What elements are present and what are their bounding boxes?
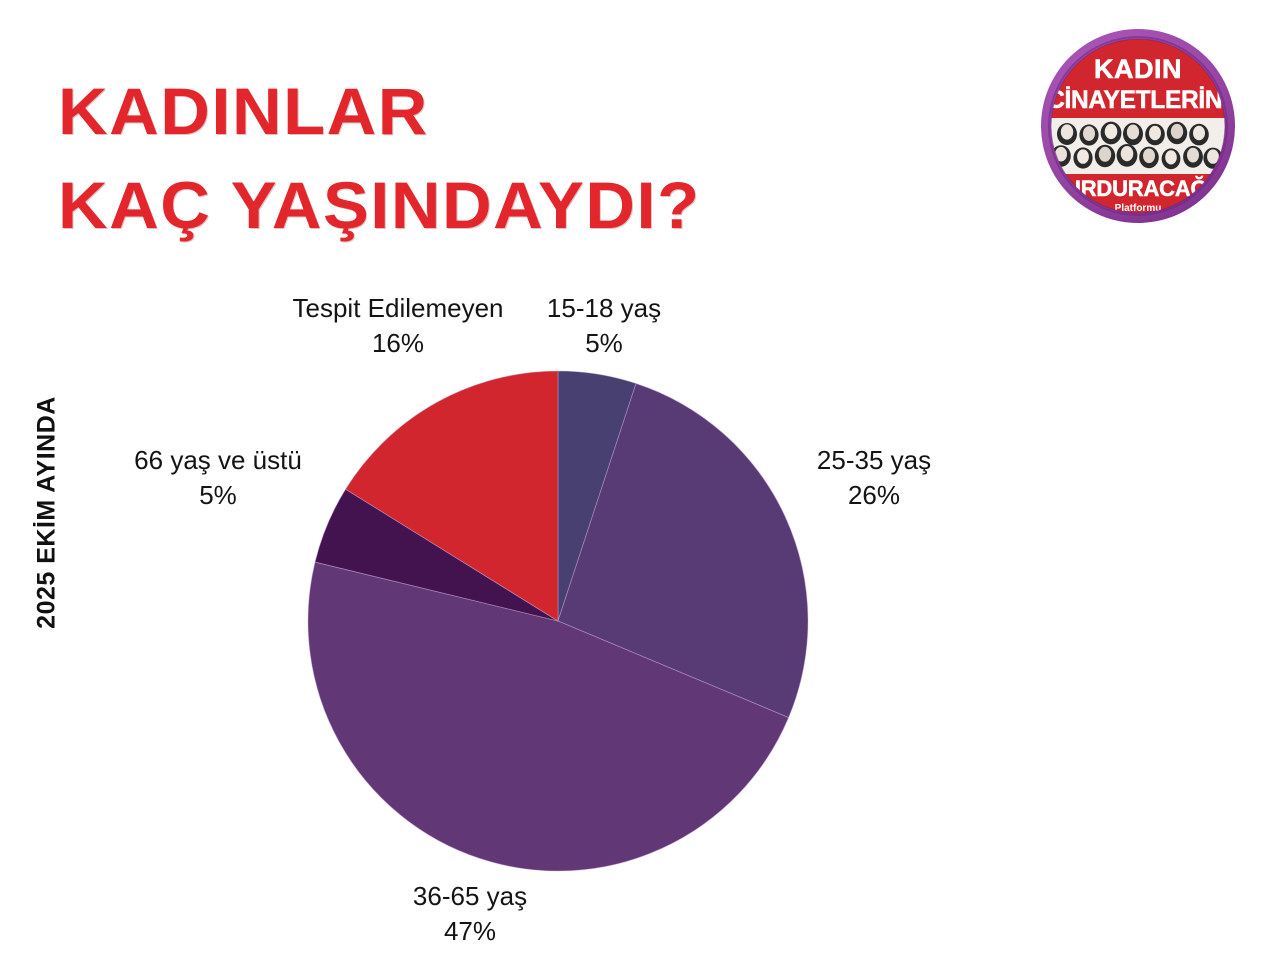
- pie-slice: [308, 562, 789, 871]
- pie-label-name: Tespit Edilemeyen: [253, 291, 543, 326]
- pie-label-36-65-yas: 36-65 yaş 47%: [372, 879, 568, 950]
- pie-slice: [315, 489, 558, 621]
- page-title: KADINLAR KAÇ YAŞINDAYDI?: [58, 78, 818, 238]
- pie-slice: [346, 371, 558, 621]
- organization-logo: KADIN CİNAYETLERİNİ DURDURACAĞIZ Platfor…: [1038, 26, 1238, 226]
- period-caption: 2025 EKİM AYINDA: [33, 363, 62, 663]
- pie-label-15-18-yas: 15-18 yaş 5%: [528, 291, 680, 362]
- pie-slice: [558, 383, 808, 717]
- page-title-line-1: KADINLAR: [58, 78, 848, 144]
- pie-label-25-35-yas: 25-35 yaş 26%: [784, 443, 964, 514]
- pie-label-66-yas-ve-ustu: 66 yaş ve üstü 5%: [108, 443, 328, 514]
- pie-slice-group: [308, 371, 808, 871]
- page-title-line-2: KAÇ YAŞINDAYDI?: [58, 172, 848, 238]
- logo-text-line-1: KADIN: [1094, 54, 1182, 84]
- logo-text-line-2: CİNAYETLERİNİ: [1047, 87, 1229, 114]
- pie-label-name: 36-65 yaş: [372, 879, 568, 914]
- pie-label-name: 66 yaş ve üstü: [108, 443, 328, 478]
- pie-label-name: 15-18 yaş: [528, 291, 680, 326]
- pie-label-value: 47%: [372, 914, 568, 949]
- pie-label-value: 26%: [784, 478, 964, 513]
- pie-slice: [558, 371, 636, 621]
- pie-label-name: 25-35 yaş: [784, 443, 964, 478]
- infographic-canvas: KADINLAR KAÇ YAŞINDAYDI? 2025 EKİM AYIND…: [0, 0, 1280, 960]
- pie-label-tespit-edilemeyen: Tespit Edilemeyen 16%: [253, 291, 543, 362]
- pie-label-value: 5%: [108, 478, 328, 513]
- pie-label-value: 5%: [528, 326, 680, 361]
- pie-label-value: 16%: [253, 326, 543, 361]
